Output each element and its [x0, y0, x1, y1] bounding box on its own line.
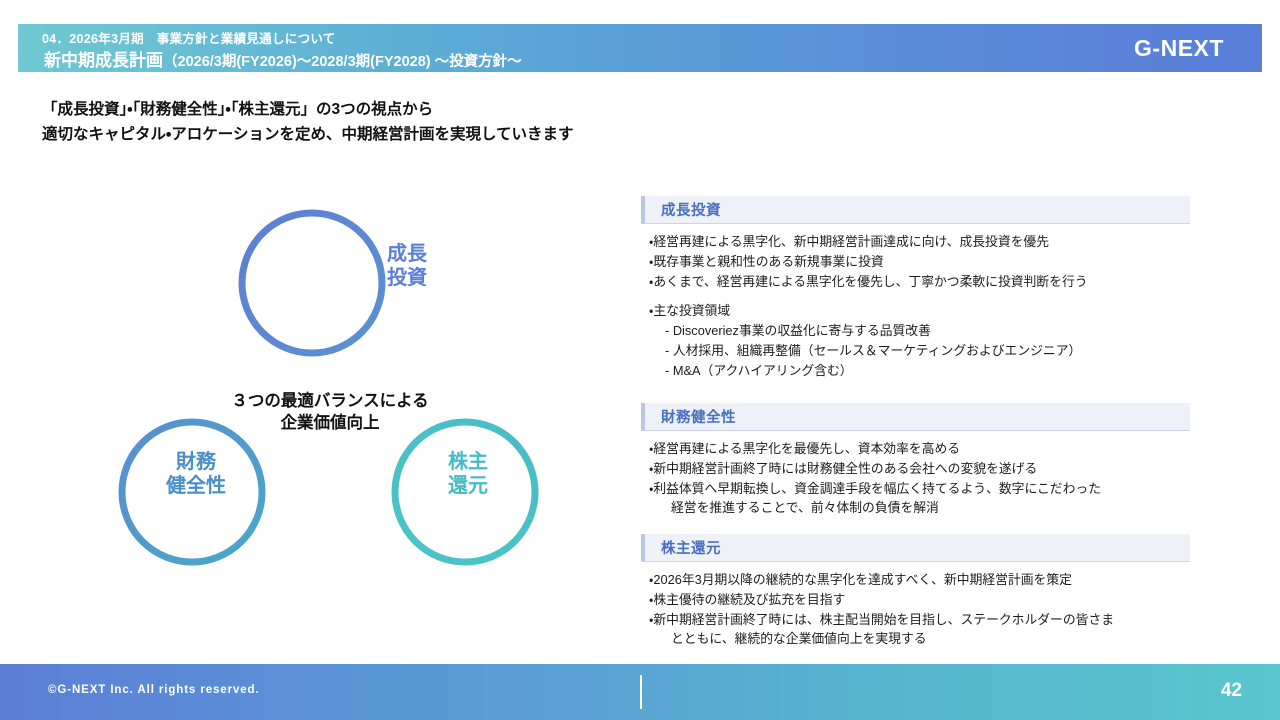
footer-page-number: 42	[1221, 680, 1242, 702]
slide-header-bar: 04．2026年3月期 事業方針と業績見通しについて 新中期成長計画（2026/…	[18, 24, 1262, 72]
section-body-finance: ・経営再建による黒字化を最優先し、資本効率を高める ・新中期経営計画終了時には財…	[641, 431, 1190, 518]
section-header-return: 株主還元	[641, 534, 1190, 562]
bullet-item: 経営を推進することで、前々体制の負債を解消	[649, 498, 1190, 518]
footer-divider	[640, 675, 642, 709]
lead-line-2: 適切なキャピタル・アロケーションを定め、中期経営計画を実現していきます	[42, 123, 574, 148]
circle-growth-investment	[242, 213, 382, 353]
header-eyebrow: 04．2026年3月期 事業方針と業績見通しについて	[42, 28, 336, 47]
bullet-item: - Discoveriez事業の収益化に寄与する品質改善	[649, 321, 1190, 341]
header-title-main: 新中期成長計画	[44, 51, 163, 70]
section-body-growth: ・経営再建による黒字化、新中期経営計画達成に向け、成長投資を優先 ・既存事業と親…	[641, 224, 1190, 381]
bullet-item: ・経営再建による黒字化を最優先し、資本効率を高める	[649, 439, 1190, 459]
bullet-item: ・2026年3月期以降の継続的な黒字化を達成すべく、新中期経営計画を策定	[649, 570, 1190, 590]
section-title-growth: 成長投資	[645, 199, 721, 220]
slide-footer-bar: ©G-NEXT Inc. All rights reserved. 42	[0, 664, 1280, 720]
footer-copyright: ©G-NEXT Inc. All rights reserved.	[48, 684, 260, 696]
bullet-item: ・新中期経営計画終了時には、株主配当開始を目指し、ステークホルダーの皆さま	[649, 610, 1190, 630]
three-pillar-diagram: 成長 投資 財務 健全性 株主 還元 ３つの最適バランスによる 企業価値向上	[95, 190, 565, 580]
section-header-finance: 財務健全性	[641, 403, 1190, 431]
bullet-item: - 人材採用、組織再整備（セールス＆マーケティングおよびエンジニア）	[649, 341, 1190, 361]
section-growth-investment: 成長投資 ・経営再建による黒字化、新中期経営計画達成に向け、成長投資を優先 ・既…	[641, 196, 1190, 381]
circle-shareholder-return	[395, 422, 535, 562]
diagram-center-line2: 企業価値向上	[150, 412, 510, 434]
bullet-item: ・主な投資領域	[649, 301, 1190, 321]
lead-line-1: 「成長投資」・「財務健全性」・「株主還元」の3つの視点から	[42, 98, 574, 123]
diagram-center-caption: ３つの最適バランスによる 企業価値向上	[150, 390, 510, 435]
bullet-item: ・あくまで、経営再建による黒字化を優先し、丁寧かつ柔軟に投資判断を行う	[649, 272, 1190, 292]
bullet-spacer	[649, 291, 1190, 301]
lead-paragraph: 「成長投資」・「財務健全性」・「株主還元」の3つの視点から 適切なキャピタル・ア…	[42, 98, 574, 148]
bullet-item: ・株主優待の継続及び拡充を目指す	[649, 590, 1190, 610]
diagram-center-line1: ３つの最適バランスによる	[150, 390, 510, 412]
bullet-item: ・既存事業と親和性のある新規事業に投資	[649, 252, 1190, 272]
bullet-item: ・経営再建による黒字化、新中期経営計画達成に向け、成長投資を優先	[649, 232, 1190, 252]
brand-logo-text: G-NEXT	[1134, 35, 1224, 62]
circle-financial-soundness	[122, 422, 262, 562]
header-title-sub: （2026/3期(FY2026)〜2028/3期(FY2028) 〜投資方針〜	[163, 54, 522, 70]
section-title-return: 株主還元	[645, 537, 721, 558]
section-financial-soundness: 財務健全性 ・経営再建による黒字化を最優先し、資本効率を高める ・新中期経営計画…	[641, 403, 1190, 518]
bullet-item: ・利益体質へ早期転換し、資金調達手段を幅広く持てるよう、数字にこだわった	[649, 479, 1190, 499]
section-body-return: ・2026年3月期以降の継続的な黒字化を達成すべく、新中期経営計画を策定 ・株主…	[641, 562, 1190, 649]
bullet-item: ・新中期経営計画終了時には財務健全性のある会社への変貌を遂げる	[649, 459, 1190, 479]
bullet-item: とともに、継続的な企業価値向上を実現する	[649, 629, 1190, 649]
header-title: 新中期成長計画（2026/3期(FY2026)〜2028/3期(FY2028) …	[44, 46, 522, 71]
brand-logo: G-NEXT	[1096, 24, 1262, 72]
section-title-finance: 財務健全性	[645, 406, 736, 427]
section-shareholder-return: 株主還元 ・2026年3月期以降の継続的な黒字化を達成すべく、新中期経営計画を策…	[641, 534, 1190, 649]
three-circles-svg	[95, 190, 565, 580]
section-header-growth: 成長投資	[641, 196, 1190, 224]
bullet-item: - M&A（アクハイアリング含む）	[649, 361, 1190, 381]
